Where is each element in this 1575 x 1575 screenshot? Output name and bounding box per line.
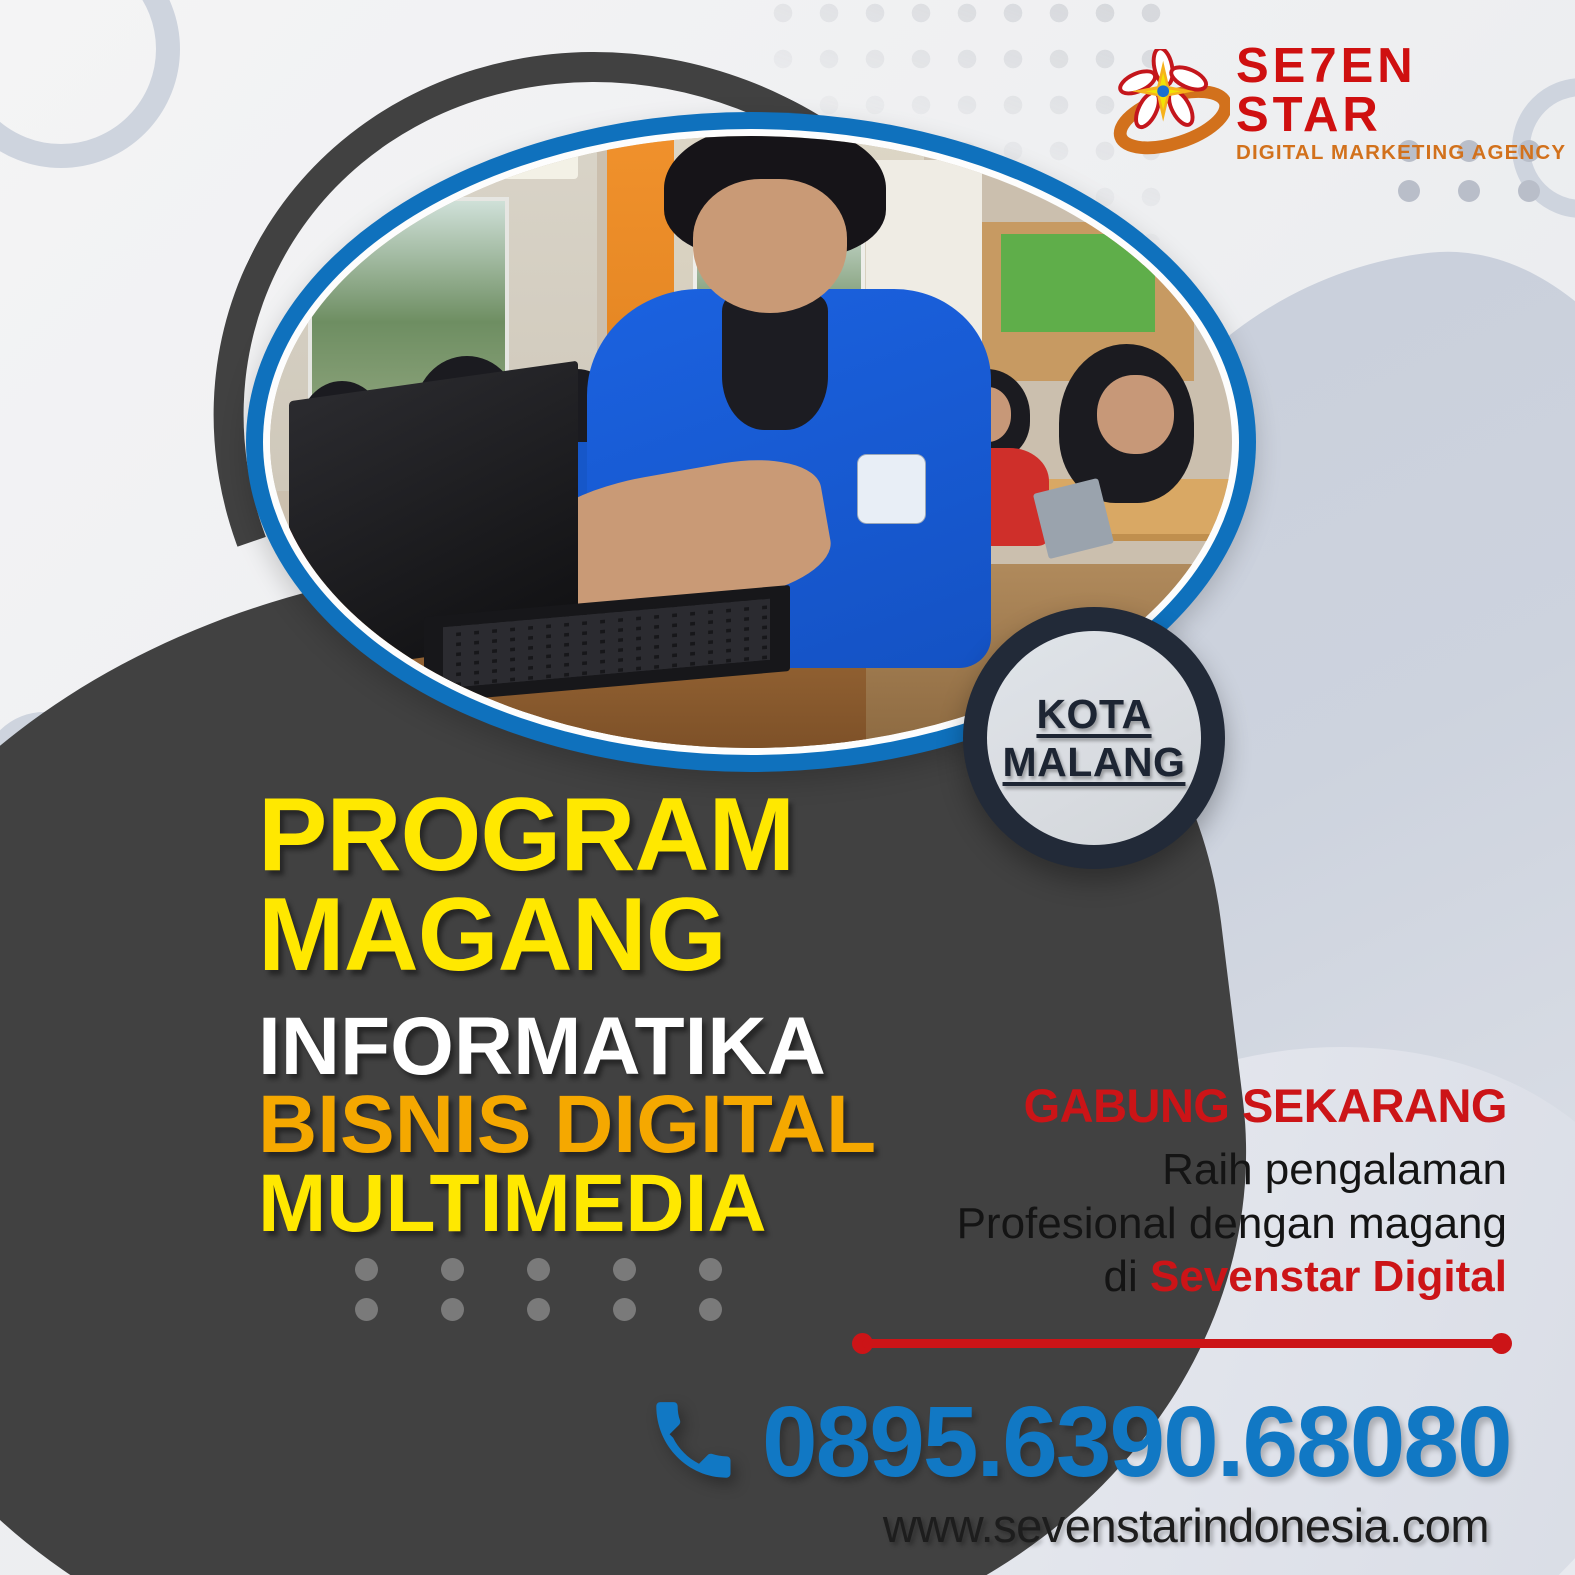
divider-dot-right: [1491, 1333, 1512, 1354]
headline-bisnis-digital: BISNIS DIGITAL: [258, 1086, 958, 1165]
photo-jacket-emblem: [857, 454, 926, 523]
cta-heading: GABUNG SEKARANG: [887, 1078, 1507, 1133]
phone-number[interactable]: 0895.6390.68080: [762, 1392, 1511, 1492]
kota-malang-badge: KOTA MALANG: [963, 607, 1225, 869]
cta-brand-name: Sevenstar Digital: [1150, 1252, 1507, 1301]
photo-shelf-green-panel: [1001, 234, 1155, 332]
cta-block: GABUNG SEKARANG Raih pengalaman Profesio…: [887, 1078, 1507, 1304]
cta-body-line1: Raih pengalaman: [1162, 1145, 1507, 1194]
website-url[interactable]: www.sevenstarindonesia.com: [883, 1498, 1489, 1553]
headline-block: PROGRAM MAGANG INFORMATIKA BISNIS DIGITA…: [258, 786, 958, 1244]
poster-canvas: KOTA MALANG PROGRAM MAGANG INFORMATIKA B…: [0, 0, 1575, 1575]
star-flower-swoosh-icon: [1112, 49, 1230, 157]
divider-bar: [862, 1339, 1502, 1348]
badge-inner-circle: KOTA MALANG: [987, 631, 1201, 845]
brand-name: SE7EN STAR: [1236, 42, 1575, 140]
cta-body: Raih pengalaman Profesional dengan magan…: [887, 1143, 1507, 1304]
phone-handset-icon: [650, 1400, 734, 1484]
brand-tagline: DIGITAL MARKETING AGENCY: [1236, 143, 1575, 164]
headline-multimedia: MULTIMEDIA: [258, 1165, 958, 1244]
photo-student-right-2-face: [1097, 375, 1174, 455]
brand-logo: SE7EN STAR DIGITAL MARKETING AGENCY: [1112, 42, 1575, 164]
red-divider: [852, 1333, 1512, 1353]
headline-informatika: INFORMATIKA: [258, 1008, 958, 1087]
badge-line-malang: MALANG: [1003, 740, 1186, 784]
photo-main-student-collar: [722, 295, 828, 430]
brand-logo-text: SE7EN STAR DIGITAL MARKETING AGENCY: [1236, 42, 1575, 164]
photo-ceiling-light: [347, 148, 578, 179]
cta-body-line3-prefix: di: [1103, 1252, 1149, 1301]
headline-magang: MAGANG: [258, 886, 958, 986]
photo-main-student-face: [693, 179, 847, 314]
cta-body-line2: Profesional dengan magang: [957, 1199, 1507, 1248]
decor-dots-on-panel: [355, 1258, 785, 1338]
contact-phone-row[interactable]: 0895.6390.68080: [650, 1392, 1511, 1492]
badge-line-kota: KOTA: [1036, 692, 1151, 736]
headline-program: PROGRAM: [258, 786, 958, 886]
decor-ring-top-left: [0, 0, 180, 168]
